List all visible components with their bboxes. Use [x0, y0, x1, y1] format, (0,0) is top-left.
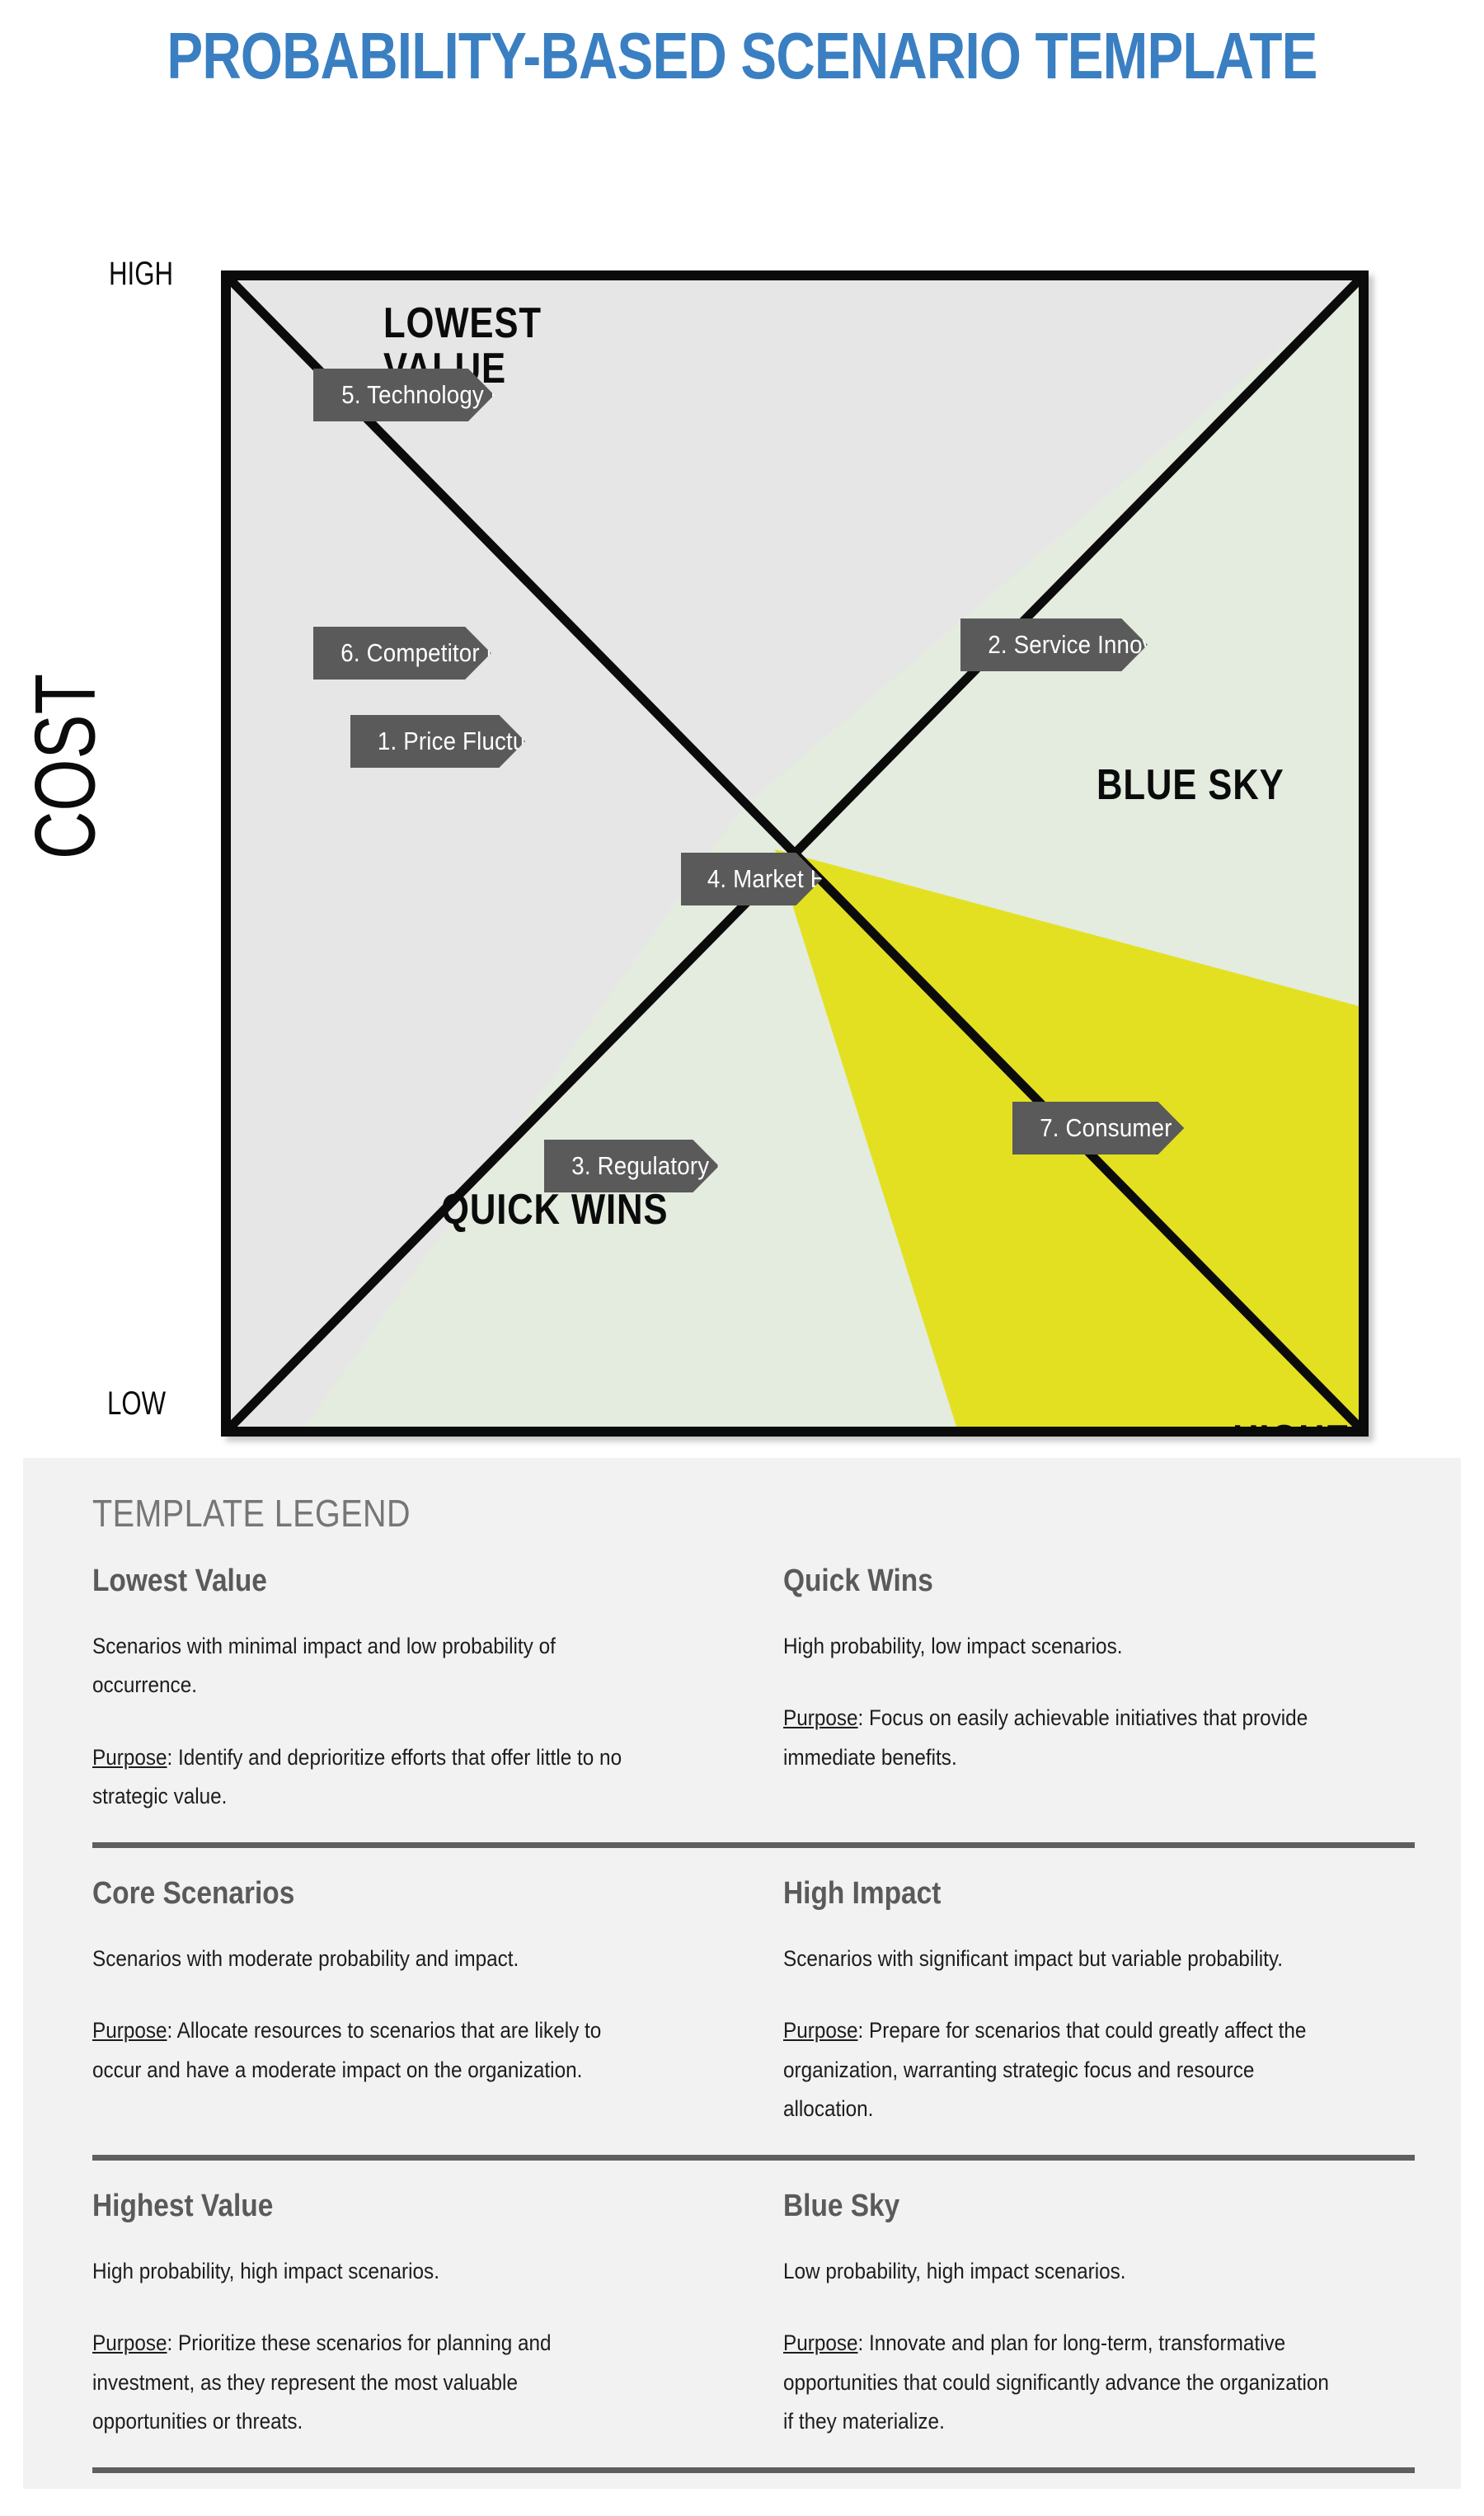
legend-divider: [92, 2155, 1415, 2161]
legend-cell-title: Lowest Value: [92, 1564, 623, 1599]
scenario-chip-5-technology-disruption[interactable]: 5. Technology Disruption: [313, 369, 494, 421]
legend-divider: [92, 2467, 1415, 2473]
legend-cell-description: Low probability, high impact scenarios.: [783, 2252, 1336, 2291]
y-axis-title: COST: [17, 632, 115, 902]
scenario-chip-2-service-innovation[interactable]: 2. Service Innovation: [960, 618, 1148, 671]
page-title: PROBABILITY-BASED SCENARIO TEMPLATE: [134, 18, 1350, 94]
legend-cell-purpose: Purpose: Prioritize these scenarios for …: [92, 2324, 636, 2441]
purpose-word: Purpose: [783, 1705, 858, 1730]
legend-cell-purpose: Purpose: Focus on easily achievable init…: [783, 1699, 1336, 1777]
legend-cell-description: High probability, high impact scenarios.: [92, 2252, 636, 2291]
scenario-chip-6-competitor-moves[interactable]: 6. Competitor Moves: [313, 627, 491, 680]
legend-cell-quick-wins: Quick Wins High probability, low impact …: [754, 1564, 1415, 1816]
purpose-text: : Identify and deprioritize efforts that…: [92, 1745, 622, 1808]
legend-cell-title: Quick Wins: [783, 1564, 1324, 1599]
legend-cell-high-impact: High Impact Scenarios with significant i…: [754, 1876, 1415, 2128]
legend-cell-blue-sky: Blue Sky Low probability, high impact sc…: [754, 2189, 1415, 2441]
legend-cell-purpose: Purpose: Identify and deprioritize effor…: [92, 1738, 636, 1817]
y-axis-high-label: HIGH: [109, 256, 173, 293]
legend-row: Lowest Value Scenarios with minimal impa…: [92, 1564, 1415, 1816]
purpose-word: Purpose: [783, 2018, 858, 2043]
legend-cell-lowest-value: Lowest Value Scenarios with minimal impa…: [92, 1564, 754, 1816]
scenario-chip-4-market-entry[interactable]: 4. Market Entry: [681, 853, 822, 905]
legend-cell-title: High Impact: [783, 1876, 1324, 1912]
purpose-text: : Prepare for scenarios that could great…: [783, 2018, 1306, 2121]
legend-cell-core-scenarios: Core Scenarios Scenarios with moderate p…: [92, 1876, 754, 2128]
legend-grid: Lowest Value Scenarios with minimal impa…: [92, 1564, 1415, 2501]
purpose-text: : Focus on easily achievable initiatives…: [783, 1705, 1308, 1769]
purpose-text: : Innovate and plan for long-term, trans…: [783, 2330, 1329, 2434]
purpose-word: Purpose: [92, 1745, 167, 1770]
purpose-word: Purpose: [92, 2330, 167, 2355]
legend-cell-description: High probability, low impact scenarios.: [783, 1627, 1336, 1666]
template-legend: TEMPLATE LEGEND Lowest Value Scenarios w…: [23, 1458, 1461, 2489]
legend-divider: [92, 1842, 1415, 1848]
legend-cell-title: Blue Sky: [783, 2189, 1324, 2224]
legend-cell-title: Core Scenarios: [92, 1876, 623, 1912]
y-axis-low-label: LOW: [107, 1385, 166, 1423]
scenario-chip-7-consumer-trends[interactable]: 7. Consumer Trends: [1012, 1102, 1184, 1155]
scenario-chip-1-price-fluctuation[interactable]: 1. Price Fluctuation: [350, 715, 525, 768]
scenario-matrix: HIGH LOW LOW HIGH COST BENEFIT LOWEST VA…: [0, 124, 1484, 1410]
purpose-text: : Allocate resources to scenarios that a…: [92, 2018, 601, 2081]
legend-cell-description: Scenarios with significant impact but va…: [783, 1940, 1336, 1978]
scenario-chip-3-regulatory-impact[interactable]: 3. Regulatory Impact: [544, 1140, 719, 1192]
legend-cell-title: Highest Value: [92, 2189, 623, 2224]
legend-cell-description: Scenarios with minimal impact and low pr…: [92, 1627, 636, 1705]
legend-row: Core Scenarios Scenarios with moderate p…: [92, 1876, 1415, 2128]
legend-title: TEMPLATE LEGEND: [92, 1491, 1229, 1535]
legend-cell-purpose: Purpose: Innovate and plan for long-term…: [783, 2324, 1336, 2441]
legend-cell-description: Scenarios with moderate probability and …: [92, 1940, 636, 1978]
purpose-word: Purpose: [783, 2330, 858, 2355]
legend-cell-purpose: Purpose: Allocate resources to scenarios…: [92, 2011, 636, 2090]
legend-row: Highest Value High probability, high imp…: [92, 2189, 1415, 2441]
legend-cell-highest-value: Highest Value High probability, high imp…: [92, 2189, 754, 2441]
legend-cell-purpose: Purpose: Prepare for scenarios that coul…: [783, 2011, 1336, 2128]
purpose-word: Purpose: [92, 2018, 167, 2043]
